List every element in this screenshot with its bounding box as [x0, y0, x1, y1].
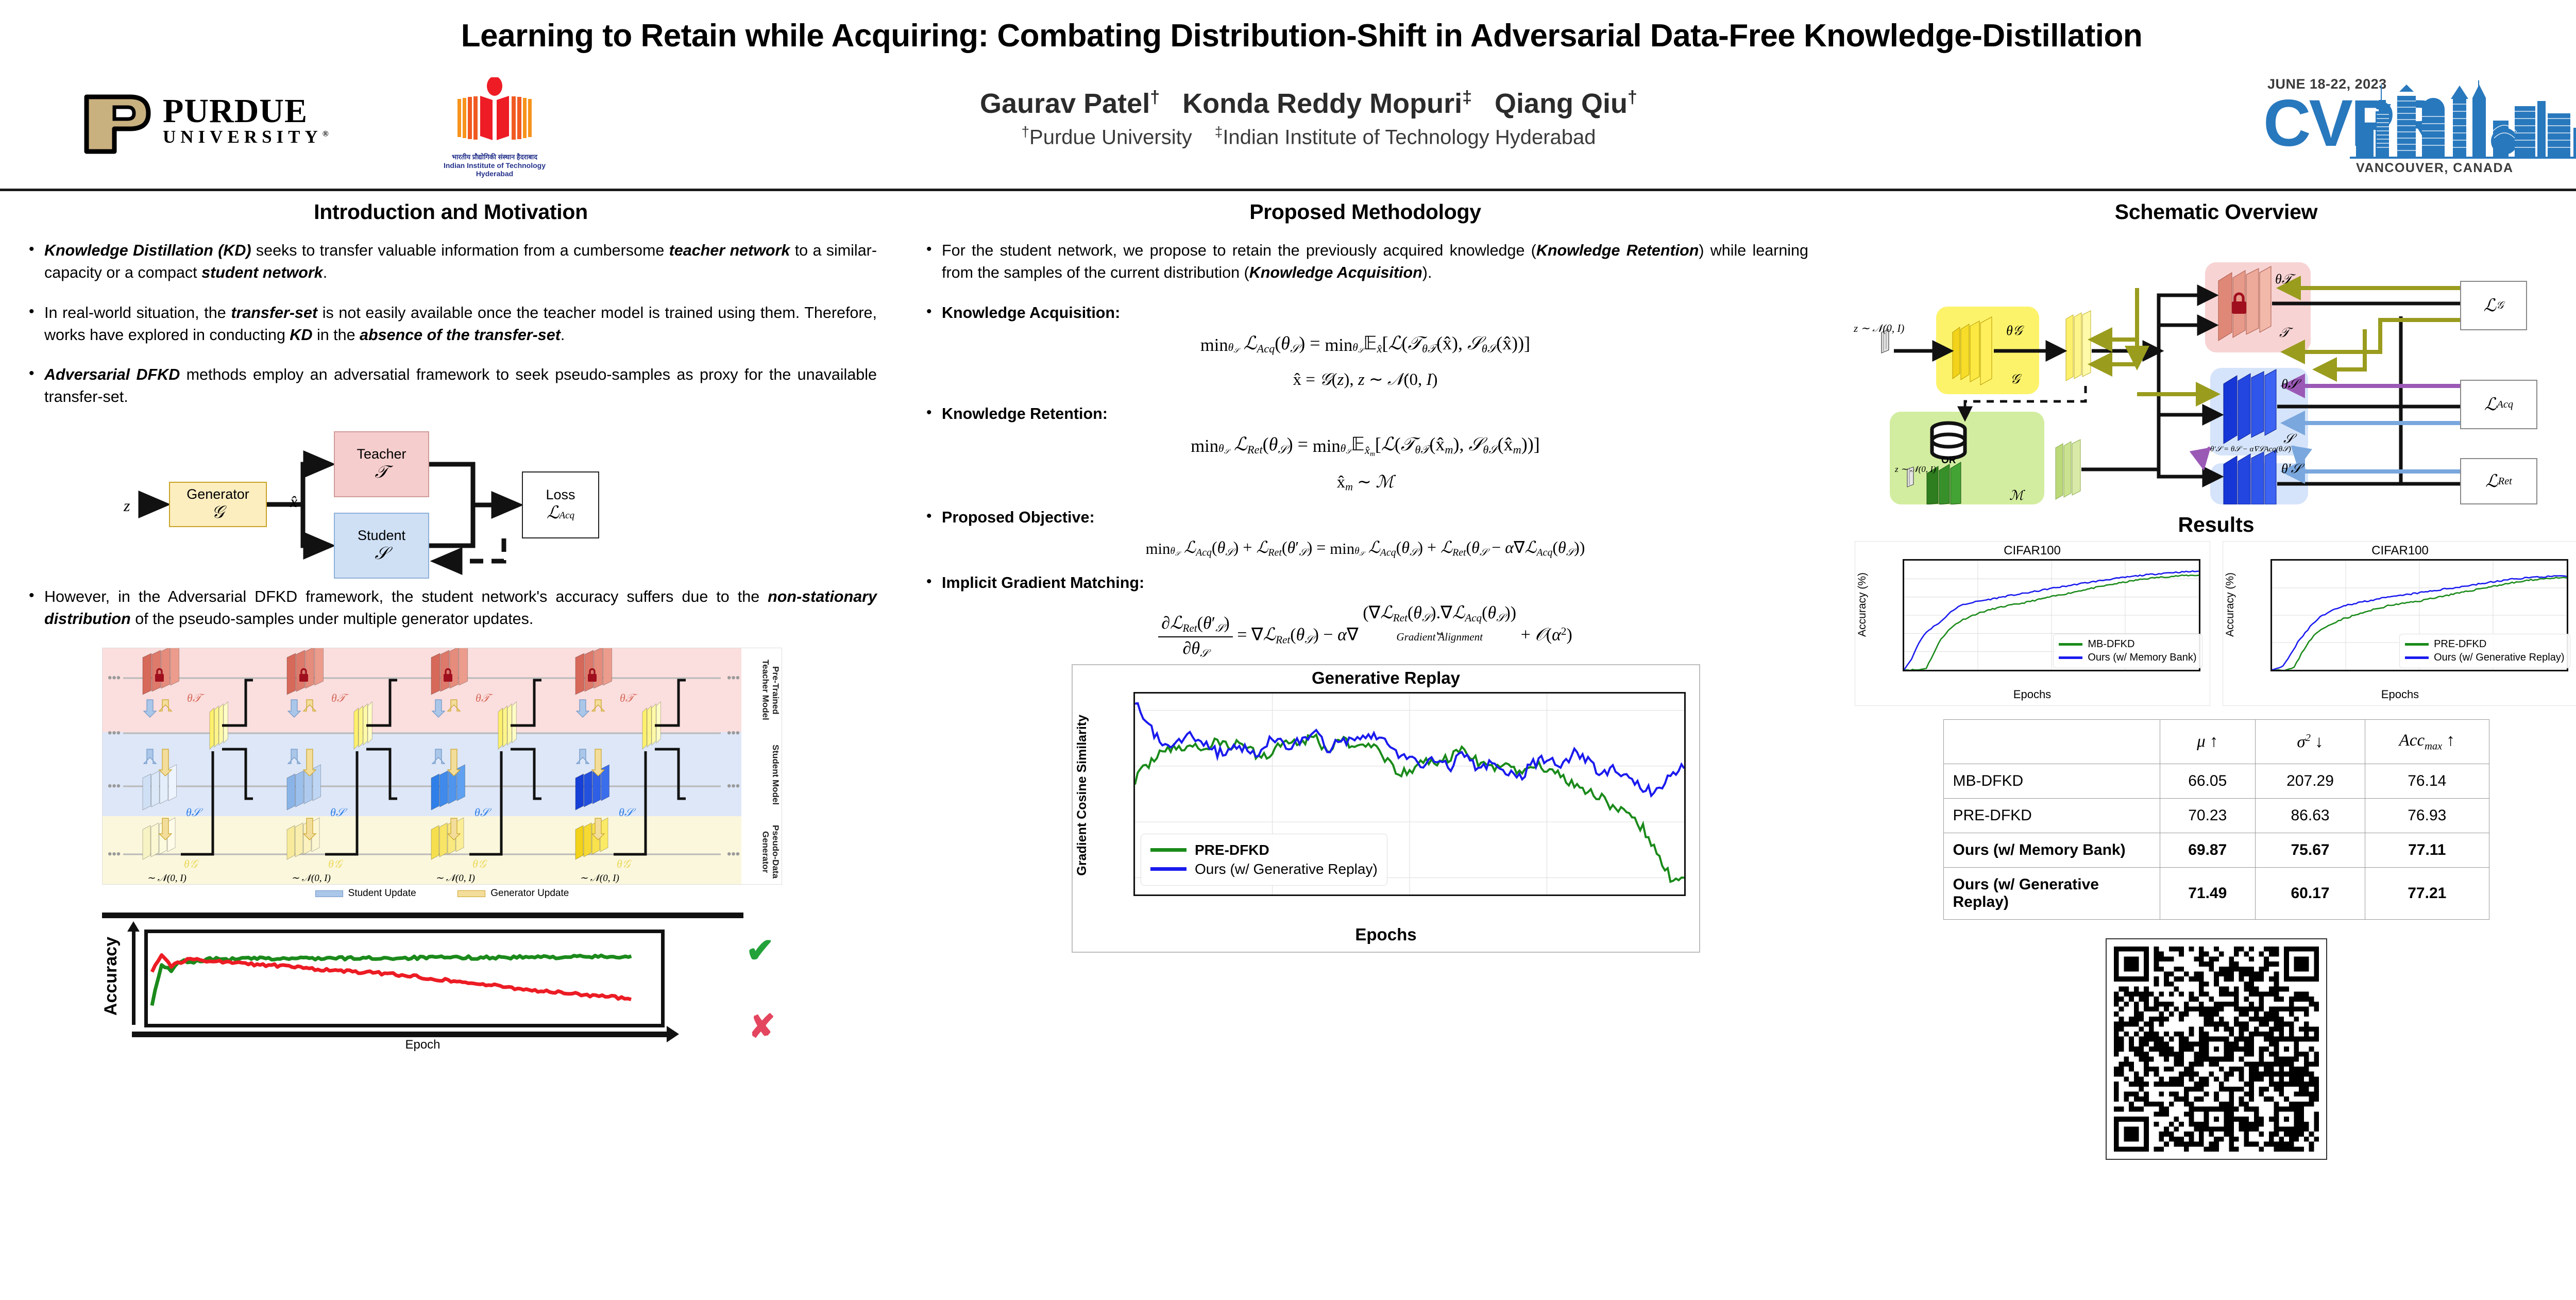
text-run: absence of the transfer-set [360, 326, 561, 344]
schematic-update-equation: θ′𝒮 = θ𝒮 − α∇ℒAcq(θ𝒮) [2210, 445, 2291, 454]
equation-implicit-gradient-matching: ∂ℒRet(θ′𝒮) ∂θ𝒮 = ∇ℒRet(θ𝒮) − α∇ (∇ℒRet(θ… [922, 602, 1808, 660]
noise-label: ∼ 𝒩(0, I) [147, 873, 187, 884]
affiliation-0-name: Purdue University [1029, 126, 1192, 148]
section-title-schematic: Schematic Overview [1844, 200, 2576, 224]
vancouver-skyline-icon [2350, 80, 2576, 160]
intro-bullet-nonstationary: However, in the Adversarial DFKD framewo… [25, 586, 877, 631]
schematic-m-symbol: ℳ [2009, 488, 2024, 503]
affiliation-1-name: Indian Institute of Technology Hyderabad [1223, 126, 1596, 148]
kd-generator-label: Generator [187, 486, 249, 502]
noise-label: ∼ 𝒩(0, I) [291, 873, 331, 884]
schematic-theta-t: θ𝒯 [2275, 272, 2292, 288]
text-run: For the student network, we propose to r… [942, 242, 1536, 259]
continuation-dots: ••• [108, 671, 121, 685]
schematic-overview-figure: z ∼ 𝒩(0, I) θ𝒢 𝒢 θ𝒯 𝒯 θ𝒮 𝒮 θ′𝒮 ℳ OR z ∼ … [1850, 231, 2576, 504]
text-run: in the [312, 326, 360, 344]
column-introduction: Introduction and Motivation Knowledge Di… [0, 196, 902, 1300]
theta-label: θ𝒯 [187, 691, 205, 704]
gr-legend-item-1: Ours (w/ Generative Replay) [1150, 861, 1378, 877]
equation-retention: minθ𝒮 ℒRet(θ𝒮) = minθ𝒮𝔼x̂m[ℒ(𝒯θ𝒯(x̂m), 𝒮… [922, 433, 1808, 458]
accuracy-x-axis-arrow [132, 1032, 668, 1037]
res0-legend-label-1: Ours (w/ Memory Bank) [2088, 652, 2196, 664]
gr-legend-line-0 [1150, 848, 1187, 852]
continuation-dots: ••• [108, 779, 121, 793]
theta-label: θ𝒮 [330, 806, 348, 819]
gr-legend-line-1 [1150, 867, 1187, 871]
text-run: Knowledge Distillation (KD) [44, 242, 251, 259]
iith-english-text: Indian Institute of Technology Hyderabad [433, 161, 556, 178]
res0-xlabel: Epochs [1855, 688, 2210, 701]
heading-implicit-gradient-matching: Implicit Gradient Matching: [922, 572, 1808, 594]
accuracy-y-axis [132, 930, 135, 1025]
kd-generator-box: Generator 𝒢 [169, 482, 267, 527]
res1-legend-label-1: Ours (w/ Generative Replay) [2434, 652, 2564, 664]
methodology-objective-list: Proposed Objective: [922, 507, 1808, 529]
res0-legend-item-1: Ours (w/ Memory Bank) [2059, 652, 2196, 664]
res0-legend-line-0 [2059, 643, 2082, 646]
noise-label: ∼ 𝒩(0, I) [580, 873, 619, 884]
motivation-accuracy-figure: Accuracy ✔ ✘ Epoch [102, 922, 743, 1051]
kd-xhat-label: x̂ [290, 492, 297, 511]
header-divider [0, 189, 2576, 191]
text-run: . [323, 264, 327, 281]
theta-label: θ𝒢 [617, 857, 632, 870]
kd-student-label: Student [358, 528, 405, 544]
epoch-axis-label: Epoch [102, 1038, 743, 1052]
adversarial-dfkd-stages-figure: Pre-Trained Teacher Model Student Model … [102, 648, 782, 885]
text-run: . [561, 326, 565, 344]
section-title-methodology: Proposed Methodology [922, 200, 1808, 224]
heading-proposed-objective: Proposed Objective: [922, 507, 1808, 529]
affiliation-0-mark: † [1021, 124, 1029, 140]
text-run: transfer-set [231, 304, 317, 322]
purdue-word-2: UNIVERSITY [163, 127, 323, 147]
introduction-bullet-list: Knowledge Distillation (KD) seeks to tra… [25, 240, 877, 409]
table-header-2: σ2 ↓ [2255, 720, 2365, 764]
authors-block: Gaurav Patel†Konda Reddy Mopuri‡Qiang Qi… [804, 88, 1814, 149]
legend-swatch-student-update [315, 890, 343, 897]
gradient-alignment-label: Gradient Alignment [1363, 631, 1516, 644]
text-run: Adversarial DFKD [44, 366, 180, 383]
continuation-dots: ••• [727, 726, 740, 740]
continuation-dots: ••• [108, 847, 121, 861]
author-1-name: Konda Reddy Mopuri [1182, 88, 1462, 119]
kd-loss-box: Loss ℒAcq [522, 471, 599, 538]
kd-framework-diagram: z Generator 𝒢 x̂ Teacher 𝒯 Student 𝒮 Los… [112, 426, 772, 581]
kd-teacher-label: Teacher [357, 446, 406, 462]
cvpr-logo: JUNE 18-22, 2023 CVPR [2263, 72, 2576, 180]
gr-legend: PRE-DFKD Ours (w/ Generative Replay) [1141, 834, 1387, 886]
schematic-z-label: z ∼ 𝒩(0, I) [1854, 322, 1904, 335]
heading-knowledge-retention: Knowledge Retention: [922, 403, 1808, 425]
text-run: teacher network [669, 242, 790, 259]
results-table: μ ↑σ2 ↓Accmax ↑ MB-DFKD66.05207.2976.14P… [1943, 719, 2489, 920]
text-run: ). [1422, 264, 1432, 281]
table-cell-1-0: 70.23 [2160, 799, 2255, 833]
equation-xhat-definition: x̂ = 𝒢(z), z ∼ 𝒩(0, I) [922, 369, 1808, 390]
res1-legend-item-0: PRE-DFKD [2405, 638, 2564, 650]
purdue-wordmark: PURDUE UNIVERSITY® [163, 96, 333, 147]
author-0-mark: † [1150, 88, 1160, 107]
multistage-legend: Student Update Generator Update [102, 888, 782, 899]
res0-legend-line-1 [2059, 656, 2082, 659]
heading-knowledge-acquisition: Knowledge Acquisition: [922, 302, 1808, 324]
cross-icon: ✘ [749, 1007, 775, 1045]
table-cell-1-1: 86.63 [2255, 799, 2365, 833]
table-row-label-1: PRE-DFKD [1943, 799, 2160, 833]
legend-swatch-generator-update [457, 890, 485, 897]
gr-legend-item-0: PRE-DFKD [1150, 842, 1378, 858]
schematic-theta-s: θ𝒮 [2281, 377, 2298, 393]
theta-label: θ𝒯 [476, 691, 494, 704]
methodology-equation-list: Knowledge Acquisition: [922, 302, 1808, 324]
author-names: Gaurav Patel†Konda Reddy Mopuri‡Qiang Qi… [804, 88, 1814, 120]
label-knowledge-acquisition: Knowledge Acquisition: [942, 304, 1120, 322]
theta-label: θ𝒮 [474, 806, 492, 819]
schematic-memory-z-label: z ∼ 𝒩(0, I) [1895, 464, 1936, 475]
schematic-loss-acq-box: ℒAcq [2460, 380, 2537, 429]
theta-label: θ𝒯 [620, 691, 638, 704]
table-row: Ours (w/ Memory Bank)69.8775.6777.11 [1943, 833, 2489, 868]
res1-legend-line-1 [2405, 656, 2429, 659]
table-header-row: μ ↑σ2 ↓Accmax ↑ [1943, 720, 2489, 764]
res1-legend-label-0: PRE-DFKD [2434, 638, 2486, 650]
purdue-word-1: PURDUE [163, 92, 308, 130]
kd-teacher-symbol: 𝒯 [375, 462, 388, 482]
table-cell-3-0: 71.49 [2160, 868, 2255, 920]
text-run: Knowledge Acquisition [1249, 264, 1422, 281]
gr-legend-label-0: PRE-DFKD [1195, 842, 1269, 858]
table-row: Ours (w/ Generative Replay)71.4960.1777.… [1943, 868, 2489, 920]
author-affiliations: †Purdue University‡Indian Institute of T… [804, 124, 1814, 149]
res1-ylabel: Accuracy (%) [2224, 572, 2236, 637]
affiliation-1-mark: ‡ [1215, 124, 1223, 140]
gradient-alignment-group: (∇ℒRet(θ𝒮).∇ℒAcq(θ𝒮)) ⎵ Gradient Alignme… [1363, 602, 1516, 643]
page-title: Learning to Retain while Acquiring: Comb… [0, 18, 2576, 54]
label-proposed-objective: Proposed Objective: [942, 509, 1095, 526]
table-cell-3-1: 60.17 [2255, 868, 2365, 920]
check-icon: ✔ [746, 931, 774, 970]
res1-legend: PRE-DFKD Ours (w/ Generative Replay) [2399, 634, 2570, 668]
multistage-network-icons: θ𝒯θ𝒮θ𝒢∼ 𝒩(0, I)θ𝒯θ𝒮θ𝒢∼ 𝒩(0, I)θ𝒯θ𝒮θ𝒢∼ 𝒩(… [103, 648, 782, 885]
res0-title: CIFAR100 [1855, 544, 2210, 558]
table-header-1: μ ↑ [2160, 720, 2255, 764]
methodology-retention-list: Knowledge Retention: [922, 403, 1808, 425]
res0-legend-item-0: MB-DFKD [2059, 638, 2196, 650]
kd-teacher-box: Teacher 𝒯 [334, 431, 429, 497]
accuracy-axis-label: Accuracy [101, 937, 121, 1016]
accuracy-curves [148, 933, 661, 1024]
res0-legend: MB-DFKD Ours (w/ Memory Bank) [2053, 634, 2202, 668]
table-cell-2-2: 77.11 [2365, 833, 2489, 868]
cvpr-city: VANCOUVER, CANADA [2356, 161, 2514, 176]
noise-label: ∼ 𝒩(0, I) [435, 873, 475, 884]
schematic-theta-g: θ𝒢 [2006, 323, 2022, 339]
kd-student-symbol: 𝒮 [375, 544, 388, 564]
continuation-dots: ••• [727, 779, 740, 793]
res0-ylabel: Accuracy (%) [1856, 572, 1869, 637]
res1-legend-line-0 [2405, 643, 2429, 646]
kd-loss-label: Loss [546, 487, 575, 503]
continuation-dots: ••• [727, 847, 740, 861]
purdue-registered-mark: ® [323, 129, 333, 138]
legend-label-generator-update: Generator Update [490, 888, 569, 899]
schematic-loss-ret-box: ℒRet [2460, 458, 2537, 504]
legend-label-student-update: Student Update [348, 888, 416, 899]
table-cell-2-1: 75.67 [2255, 833, 2365, 868]
gr-x-axis-label: Epochs [1073, 925, 1699, 944]
results-chart-memory-bank: CIFAR100 Accuracy (%) 505560657075800100… [1855, 541, 2210, 706]
qr-code-matrix [2114, 947, 2319, 1152]
theta-label: θ𝒢 [184, 857, 199, 870]
text-run: student network [201, 264, 323, 281]
table-cell-1-2: 76.93 [2365, 799, 2489, 833]
kd-generator-symbol: 𝒢 [212, 502, 224, 522]
text-run: KD [290, 326, 312, 344]
schematic-or-label: OR [1941, 455, 1956, 466]
schematic-t-symbol: 𝒯 [2279, 325, 2290, 341]
author-2-mark: † [1628, 88, 1637, 107]
table-row: MB-DFKD66.05207.2976.14 [1943, 764, 2489, 799]
table-row-label-0: MB-DFKD [1943, 764, 2160, 799]
intro-bullet-2: Adversarial DFKD methods employ an adver… [25, 364, 877, 409]
schematic-theta-s-prime: θ′𝒮 [2281, 461, 2301, 477]
equation-xm-distribution: x̂m ∼ ℳ [922, 471, 1808, 494]
table-header-0 [1943, 720, 2160, 764]
accuracy-plot-box [144, 930, 665, 1027]
methodology-intro-bullet-item: For the student network, we propose to r… [922, 240, 1808, 284]
continuation-dots: ••• [108, 726, 121, 740]
author-2-name: Qiang Qiu [1495, 88, 1628, 119]
table-cell-3-2: 77.21 [2365, 868, 2489, 920]
gr-chart-title: Generative Replay [1073, 668, 1699, 688]
table-cell-2-0: 69.87 [2160, 833, 2255, 868]
section-title-results: Results [1844, 513, 2576, 537]
label-implicit-gradient-matching: Implicit Gradient Matching: [942, 574, 1144, 592]
res1-legend-item-1: Ours (w/ Generative Replay) [2405, 652, 2564, 664]
theta-label: θ𝒢 [472, 857, 488, 870]
table-cell-0-1: 207.29 [2255, 764, 2365, 799]
table-cell-0-2: 76.14 [2365, 764, 2489, 799]
methodology-igm-list: Implicit Gradient Matching: [922, 572, 1808, 594]
text-run: seeks to transfer valuable information f… [251, 242, 669, 259]
continuation-dots: ••• [727, 671, 740, 685]
kd-student-box: Student 𝒮 [334, 513, 429, 579]
schematic-g-symbol: 𝒢 [2010, 372, 2020, 387]
author-1-mark: ‡ [1462, 88, 1472, 107]
author-0-name: Gaurav Patel [980, 88, 1150, 119]
purdue-logo: PURDUE UNIVERSITY® [82, 94, 402, 161]
theta-label: θ𝒯 [331, 691, 349, 704]
text-run: However, in the Adversarial DFKD framewo… [44, 588, 768, 605]
column-methodology: Proposed Methodology For the student net… [902, 196, 1829, 1300]
text-run: Knowledge Retention [1536, 242, 1699, 259]
methodology-intro-bullet: For the student network, we propose to r… [922, 240, 1808, 284]
intro-bullet-0: Knowledge Distillation (KD) seeks to tra… [25, 240, 877, 284]
iith-hindi-text: भारतीय प्रौद्योगिकी संस्थान हैदराबाद [433, 152, 556, 161]
equation-acquisition: minθ𝒮 ℒAcq(θ𝒮) = minθ𝒮𝔼x̂[ℒ(𝒯θ𝒯(x̂), 𝒮θ𝒮… [922, 332, 1808, 356]
iith-book-mark [453, 77, 536, 147]
label-knowledge-retention: Knowledge Retention: [942, 405, 1108, 423]
table-cell-0-0: 66.05 [2160, 764, 2255, 799]
purdue-p-mark [82, 94, 155, 155]
kd-loss-symbol: ℒAcq [547, 503, 574, 523]
qr-code[interactable] [2106, 938, 2327, 1160]
gr-y-axis-label: Gradient Cosine Similarity [1075, 715, 1090, 876]
section-title-introduction: Introduction and Motivation [25, 200, 877, 224]
section-rule [102, 913, 743, 918]
gr-legend-label-1: Ours (w/ Generative Replay) [1195, 861, 1378, 877]
theta-label: θ𝒮 [186, 806, 204, 819]
equation-proposed-objective: minθ𝒮 ℒAcq(θ𝒮) + ℒRet(θ′𝒮) = minθ𝒮 ℒAcq(… [922, 537, 1808, 559]
text-run: of the pseudo-samples under multiple gen… [131, 610, 534, 628]
iith-logo: भारतीय प्रौद्योगिकी संस्थान हैदराबाद Ind… [433, 77, 556, 180]
intro-bullet-1: In real-world situation, the transfer-se… [25, 302, 877, 347]
acc-series-degrading [152, 955, 631, 1000]
schematic-loss-generator-box: ℒ𝒢 [2460, 281, 2527, 330]
results-chart-generative-replay: CIFAR100 Accuracy (%) 606570758001002003… [2223, 541, 2576, 706]
kd-z-label: z [124, 496, 130, 515]
introduction-bullet-bottom: However, in the Adversarial DFKD framewo… [25, 586, 877, 631]
table-row-label-2: Ours (w/ Memory Bank) [1943, 833, 2160, 868]
table-row: PRE-DFKD70.2386.6376.93 [1943, 799, 2489, 833]
generative-replay-chart: Generative Replay Gradient Cosine Simila… [1072, 664, 1700, 953]
res1-title: CIFAR100 [2223, 544, 2576, 558]
theta-label: θ𝒮 [619, 806, 636, 819]
table-header-3: Accmax ↑ [2365, 720, 2489, 764]
table-row-label-3: Ours (w/ Generative Replay) [1943, 868, 2160, 920]
res0-legend-label-0: MB-DFKD [2088, 638, 2134, 650]
res1-xlabel: Epochs [2223, 688, 2576, 701]
theta-label: θ𝒢 [328, 857, 344, 870]
column-results: Schematic Overview [1829, 196, 2576, 1300]
text-run: In real-world situation, the [44, 304, 231, 322]
results-charts-row: CIFAR100 Accuracy (%) 505560657075800100… [1844, 541, 2576, 706]
